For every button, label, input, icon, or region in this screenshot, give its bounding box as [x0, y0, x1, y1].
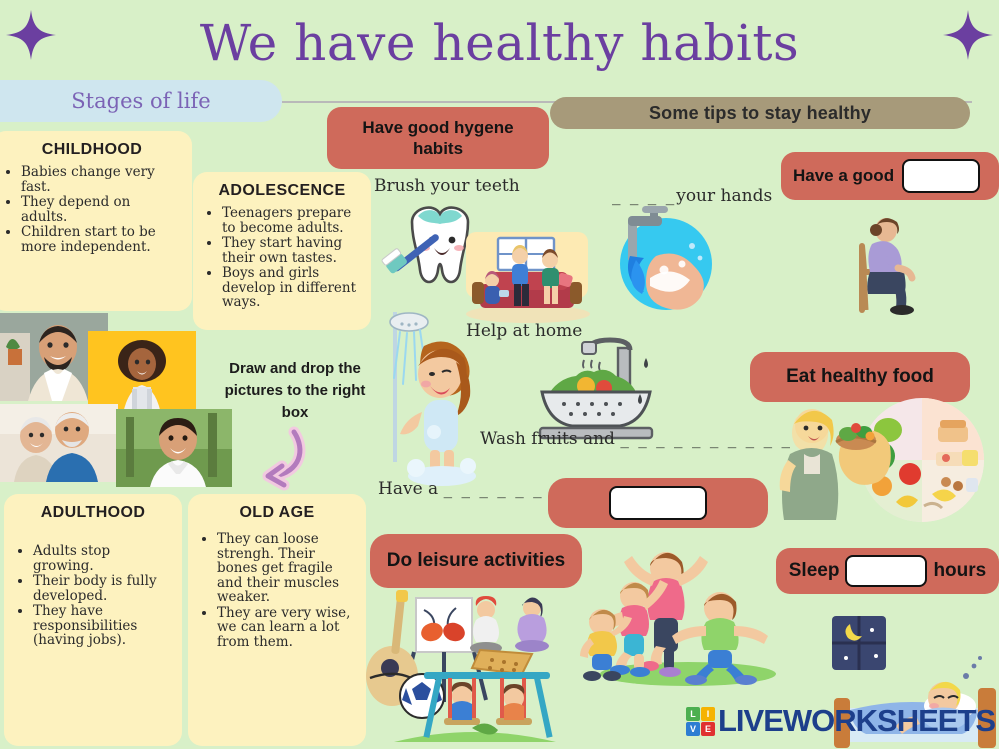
tip-eat-healthy-label: Eat healthy food — [750, 352, 970, 402]
stage-heading-old-age: OLD AGE — [200, 504, 354, 522]
stage-heading-childhood: CHILDHOOD — [4, 141, 180, 159]
list-item: They depend on adults. — [21, 195, 180, 224]
sleep-hours-input[interactable] — [845, 555, 927, 587]
activity-label-brush-teeth: Brush your teeth — [374, 176, 520, 196]
stage-card-adulthood: ADULTHOOD Adults stop growing. Their bod… — [4, 494, 182, 746]
stages-of-life-pill: Stages of life — [0, 80, 282, 122]
stage-bullets-adulthood: Adults stop growing. Their body is fully… — [16, 544, 170, 648]
stages-of-life-label: Stages of life — [71, 89, 210, 113]
have-a-good-input[interactable] — [902, 159, 980, 193]
have-a-good-label: Have a good — [793, 166, 894, 186]
list-item: They are very wise, we can learn a lot f… — [217, 606, 354, 650]
stage-bullets-old-age: They can loose strengh. Their bones get … — [200, 532, 354, 650]
stage-card-old-age: OLD AGE They can loose strengh. Their bo… — [188, 494, 366, 746]
activity-label-wash-hands: _ _ _ _your hands — [612, 186, 772, 206]
hand-washing-illustration — [600, 206, 720, 321]
wash-hands-text: your hands — [676, 186, 772, 206]
logo-cube-l: L — [686, 707, 700, 721]
stage-bullets-childhood: Babies change very fast. They depend on … — [4, 165, 180, 254]
wash-fruits-text: Wash fruits and — [480, 429, 615, 449]
have-a-text: Have a — [378, 479, 438, 499]
tip-have-a-good: Have a good — [781, 152, 999, 200]
list-item: Boys and girls develop in different ways… — [222, 266, 359, 310]
list-item: Their body is fully developed. — [33, 574, 170, 603]
list-item: They can loose strengh. Their bones get … — [217, 532, 354, 605]
center-answer-pill — [548, 478, 768, 528]
tips-banner-label: Some tips to stay healthy — [649, 103, 871, 124]
tip-sleep: Sleep hours — [776, 548, 999, 594]
healthy-food-illustration — [770, 398, 999, 533]
liveworksheets-logo: L I V E LIVEWORKSHEETS — [686, 703, 995, 739]
elderly-couple-photo[interactable] — [0, 404, 118, 482]
logo-cube-e: E — [701, 722, 715, 736]
list-item: Adults stop growing. — [33, 544, 170, 573]
page-title: We have healthy habits — [0, 14, 999, 72]
list-item: Babies change very fast. — [21, 165, 180, 194]
stage-bullets-adolescence: Teenagers prepare to become adults. They… — [205, 206, 359, 310]
sleep-suffix-label: hours — [933, 560, 986, 582]
good-posture-illustration — [842, 210, 952, 325]
stage-card-adolescence: ADOLESCENCE Teenagers prepare to become … — [193, 172, 371, 330]
leisure-activities-illustration — [364, 590, 584, 749]
tips-banner: Some tips to stay healthy — [550, 97, 970, 129]
logo-cube-i: I — [701, 707, 715, 721]
drag-drop-instruction: Draw and drop the pictures to the right … — [210, 358, 380, 423]
sleep-prefix-label: Sleep — [789, 560, 840, 582]
list-item: Children start to be more independent. — [21, 225, 180, 254]
wash-hands-blank: _ _ _ _ — [612, 186, 676, 206]
stage-card-childhood: CHILDHOOD Babies change very fast. They … — [0, 131, 192, 311]
stage-heading-adulthood: ADULTHOOD — [16, 504, 170, 522]
stage-heading-adolescence: ADOLESCENCE — [205, 182, 359, 200]
curved-arrow-icon — [232, 428, 312, 490]
shower-illustration — [376, 300, 496, 495]
kids-exercising-illustration — [580, 546, 795, 691]
have-a-blank: _ _ _ _ _ _ — [444, 479, 544, 499]
center-answer-input[interactable] — [609, 486, 707, 520]
tip-hygiene-label: Have good hygene habits — [327, 107, 549, 169]
list-item: They start having their own tastes. — [222, 236, 359, 265]
activity-label-have-a: Have a _ _ _ _ _ _ — [378, 479, 544, 499]
liveworksheets-cubes-icon: L I V E — [686, 707, 715, 736]
list-item: They have responsibilities (having jobs)… — [33, 604, 170, 648]
tip-leisure-label: Do leisure activities — [370, 534, 582, 588]
liveworksheets-wordmark: LIVEWORKSHEETS — [718, 703, 995, 739]
wash-fruits-blank: _ _ _ _ _ _ _ _ _ _ — [620, 429, 792, 449]
activity-label-wash-fruits: Wash fruits and _ _ _ _ _ _ _ _ _ _ — [480, 429, 792, 449]
logo-cube-v: V — [686, 722, 700, 736]
worksheet-canvas: We have healthy habits Stages of life CH… — [0, 0, 999, 749]
list-item: Teenagers prepare to become adults. — [222, 206, 359, 235]
